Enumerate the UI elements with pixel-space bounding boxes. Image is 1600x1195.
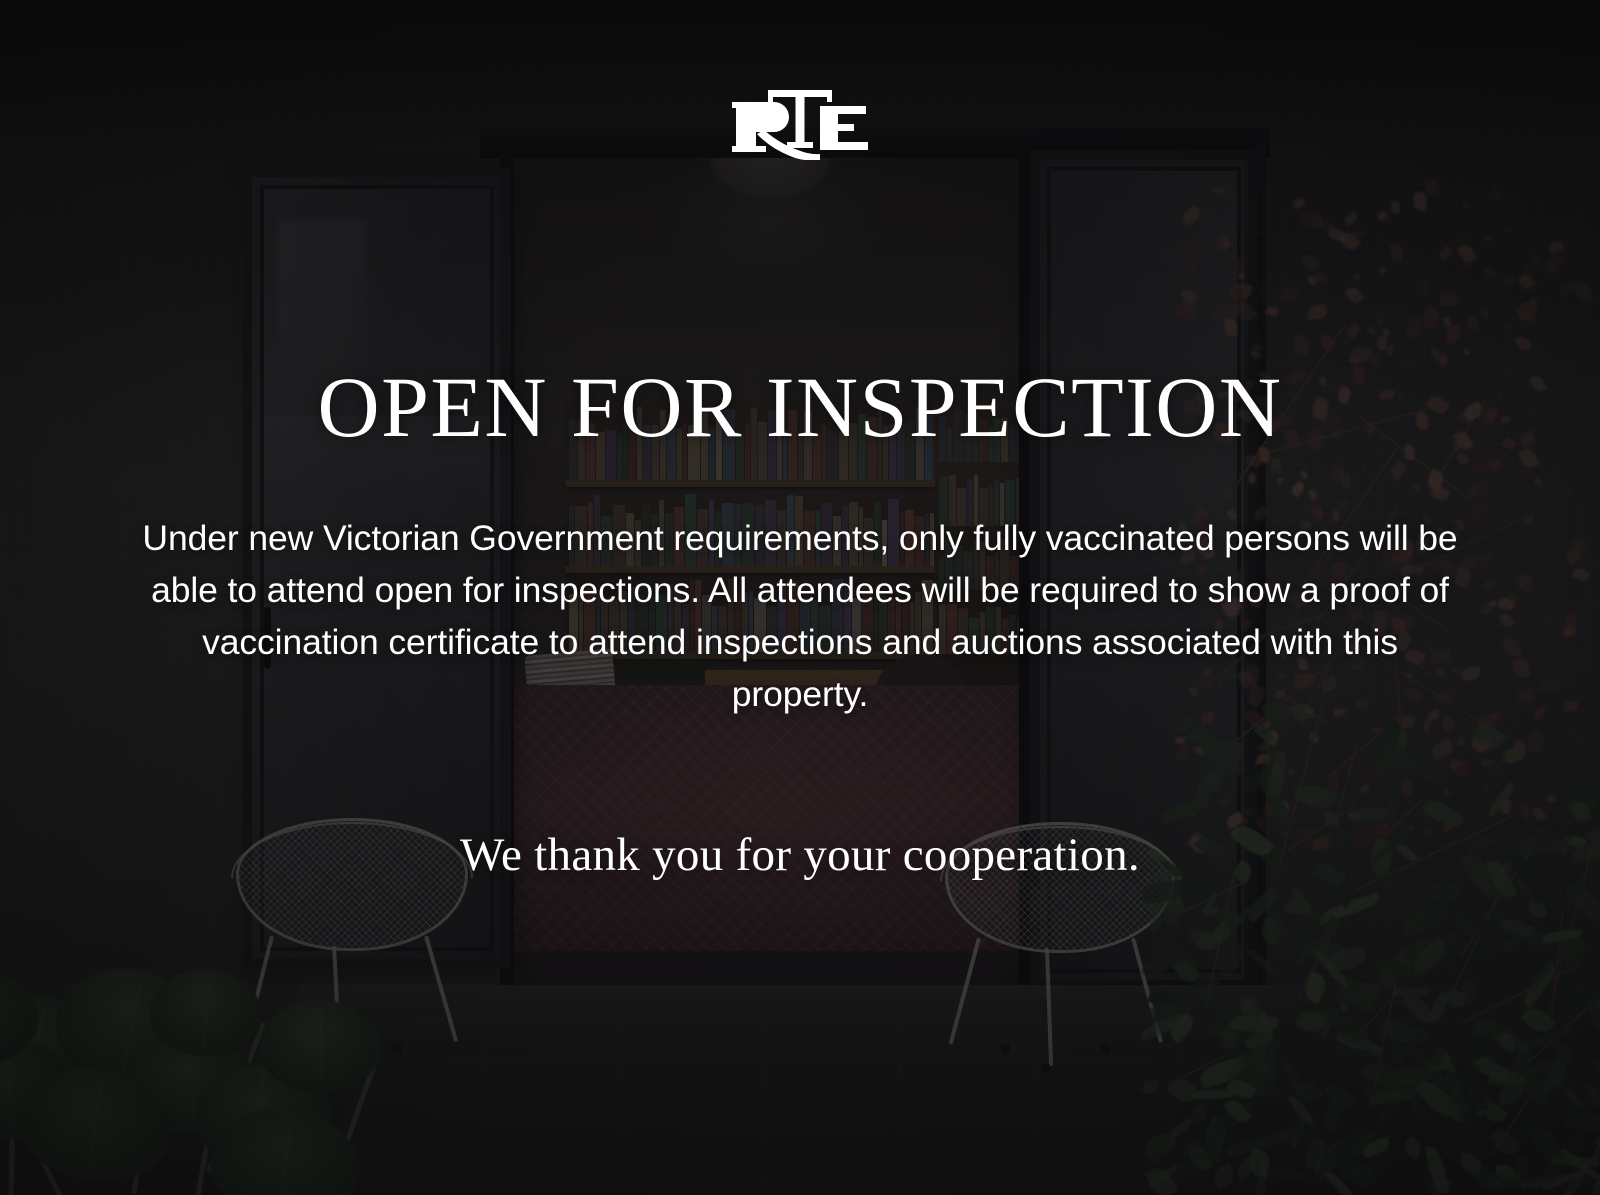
notice-body-text: Under new Victorian Government requireme… [135,512,1465,720]
notice-content: OPEN FOR INSPECTION Under new Victorian … [0,0,1600,1195]
rte-monogram-logo [720,84,880,160]
open-for-inspection-notice: OPEN FOR INSPECTION Under new Victorian … [0,0,1600,1195]
rte-logo-svg [720,84,880,160]
notice-signoff-text: We thank you for your cooperation. [0,827,1600,883]
page-title: OPEN FOR INSPECTION [0,364,1600,450]
